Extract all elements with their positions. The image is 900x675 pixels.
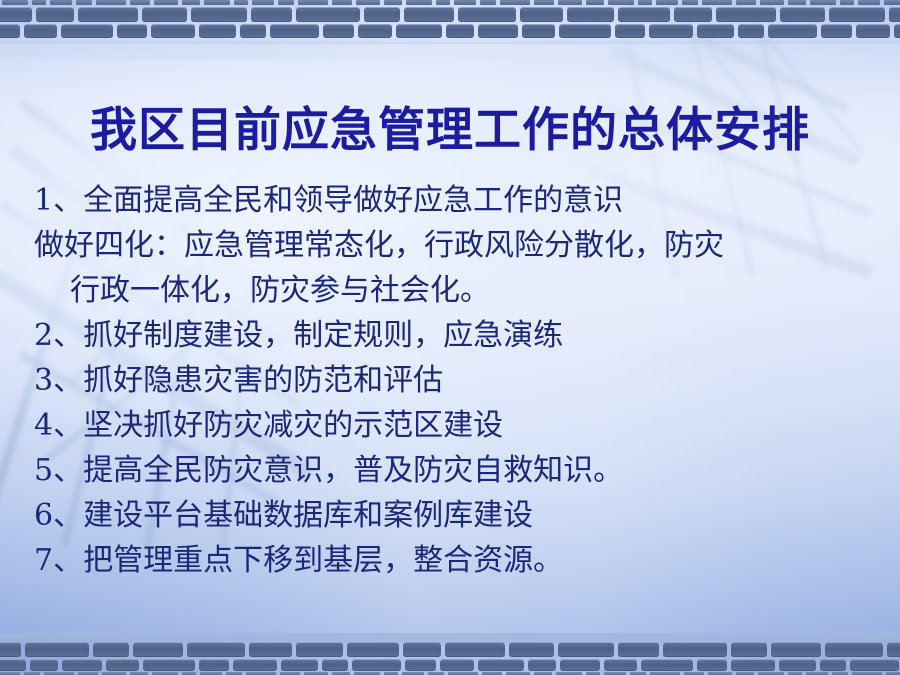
- brick-border-bottom: [0, 633, 900, 675]
- brick: [25, 642, 89, 657]
- body-line: 2、抓好制度建设，制定规则，应急演练: [34, 313, 874, 358]
- brick: [240, 24, 266, 38]
- brick: [560, 659, 600, 671]
- brick: [322, 659, 348, 671]
- brick: [61, 24, 113, 38]
- brick: [347, 642, 399, 657]
- brick: [641, 659, 693, 671]
- brick: [298, 0, 328, 5]
- brick: [779, 659, 816, 671]
- brick: [858, 0, 880, 5]
- brick: [884, 0, 900, 5]
- brick: [887, 642, 900, 657]
- brick: [768, 24, 817, 38]
- brick: [24, 24, 57, 38]
- brick: [233, 659, 277, 671]
- brick: [478, 24, 518, 38]
- brick: [534, 0, 554, 5]
- brick: [856, 24, 890, 38]
- brick: [825, 642, 883, 657]
- brick: [234, 0, 248, 5]
- brick: [559, 24, 611, 38]
- brick: [458, 7, 516, 22]
- brick: [731, 642, 767, 657]
- brick: [788, 0, 806, 5]
- body-line: 1、全面提高全民和领导做好应急工作的意识: [34, 178, 874, 223]
- brick: [62, 659, 102, 671]
- body-line: 3、抓好隐患灾害的防范和评估: [34, 358, 874, 403]
- brick: [0, 7, 32, 22]
- brick: [558, 642, 614, 657]
- brick: [204, 0, 230, 5]
- brick: [96, 0, 126, 5]
- brick: [780, 7, 825, 22]
- brick: [405, 659, 436, 671]
- brick: [522, 24, 555, 38]
- brick: [406, 0, 432, 5]
- brick: [2, 0, 28, 5]
- brick: [736, 0, 756, 5]
- brick: [270, 24, 319, 38]
- body-line: 5、提高全民防灾意识，普及防灾自救知识。: [34, 448, 874, 493]
- brick: [618, 7, 670, 22]
- brick: [604, 659, 637, 671]
- brick: [364, 7, 400, 22]
- brick: [323, 24, 354, 38]
- brick: [894, 24, 900, 38]
- body-line: 做好四化：应急管理常态化，行政风险分散化，防灾: [34, 223, 874, 268]
- slide-body-text: 1、全面提高全民和领导做好应急工作的意识做好四化：应急管理常态化，行政风险分散化…: [34, 178, 874, 583]
- brick: [404, 7, 454, 22]
- brick: [78, 7, 138, 22]
- brick: [296, 642, 343, 657]
- brick: [446, 24, 474, 38]
- brick: [106, 659, 139, 671]
- brick: [332, 0, 352, 5]
- brick: [649, 24, 693, 38]
- brick: [674, 7, 712, 22]
- brick: [154, 0, 178, 5]
- brick: [440, 659, 474, 671]
- brick: [697, 24, 734, 38]
- brick: [697, 659, 727, 671]
- body-line: 7、把管理重点下移到基层，整合资源。: [34, 538, 874, 583]
- brick: [760, 0, 784, 5]
- brick: [142, 7, 187, 22]
- brick: [191, 7, 247, 22]
- brick: [850, 659, 899, 671]
- brick-border-top: [0, 0, 900, 44]
- brick: [30, 659, 58, 671]
- brick: [656, 0, 678, 5]
- brick: [396, 24, 442, 38]
- brick: [608, 0, 634, 5]
- brick: [618, 642, 659, 657]
- brick: [281, 659, 318, 671]
- brick: [36, 7, 74, 22]
- brick: [358, 24, 392, 38]
- brick: [558, 0, 582, 5]
- brick: [249, 642, 292, 657]
- brick: [480, 0, 496, 5]
- brick: [199, 24, 236, 38]
- body-line: 4、坚决抓好防灾减灾的示范区建设: [34, 403, 874, 448]
- brick: [702, 0, 732, 5]
- brick: [76, 0, 92, 5]
- brick: [829, 7, 885, 22]
- brick: [130, 0, 150, 5]
- brick: [0, 642, 21, 657]
- brick: [187, 642, 245, 657]
- brick: [478, 659, 524, 671]
- body-line: 6、建设平台基础数据库和案例库建设: [34, 493, 874, 538]
- brick: [278, 0, 294, 5]
- brick: [151, 24, 195, 38]
- brick: [117, 24, 147, 38]
- brick: [445, 642, 505, 657]
- brick: [810, 0, 836, 5]
- brick: [199, 659, 229, 671]
- presentation-slide: 我区目前应急管理工作的总体安排 1、全面提高全民和领导做好应急工作的意识做好四化…: [0, 0, 900, 675]
- brick: [889, 7, 900, 22]
- brick: [682, 0, 698, 5]
- brick: [663, 642, 727, 657]
- brick: [500, 0, 530, 5]
- brick: [509, 642, 554, 657]
- brick: [840, 0, 854, 5]
- brick: [356, 0, 380, 5]
- brick: [716, 7, 776, 22]
- brick: [32, 0, 46, 5]
- brick: [638, 0, 652, 5]
- brick: [454, 0, 476, 5]
- brick: [251, 7, 292, 22]
- brick: [50, 0, 72, 5]
- brick: [296, 7, 360, 22]
- brick: [403, 642, 441, 657]
- brick: [731, 659, 775, 671]
- brick: [143, 659, 195, 671]
- brick: [586, 0, 604, 5]
- slide-title: 我区目前应急管理工作的总体安排: [0, 103, 900, 159]
- brick: [820, 659, 846, 671]
- brick: [528, 659, 556, 671]
- brick: [384, 0, 402, 5]
- brick: [182, 0, 200, 5]
- brick: [567, 7, 614, 22]
- brick: [352, 659, 401, 671]
- brick: [821, 24, 852, 38]
- brick: [133, 642, 183, 657]
- brick: [615, 24, 645, 38]
- brick: [252, 0, 274, 5]
- brick: [738, 24, 764, 38]
- brick: [93, 642, 129, 657]
- brick: [520, 7, 563, 22]
- brick: [0, 659, 26, 671]
- brick: [771, 642, 821, 657]
- body-line: 行政一体化，防灾参与社会化。: [34, 268, 874, 313]
- brick: [436, 0, 450, 5]
- brick: [0, 24, 20, 38]
